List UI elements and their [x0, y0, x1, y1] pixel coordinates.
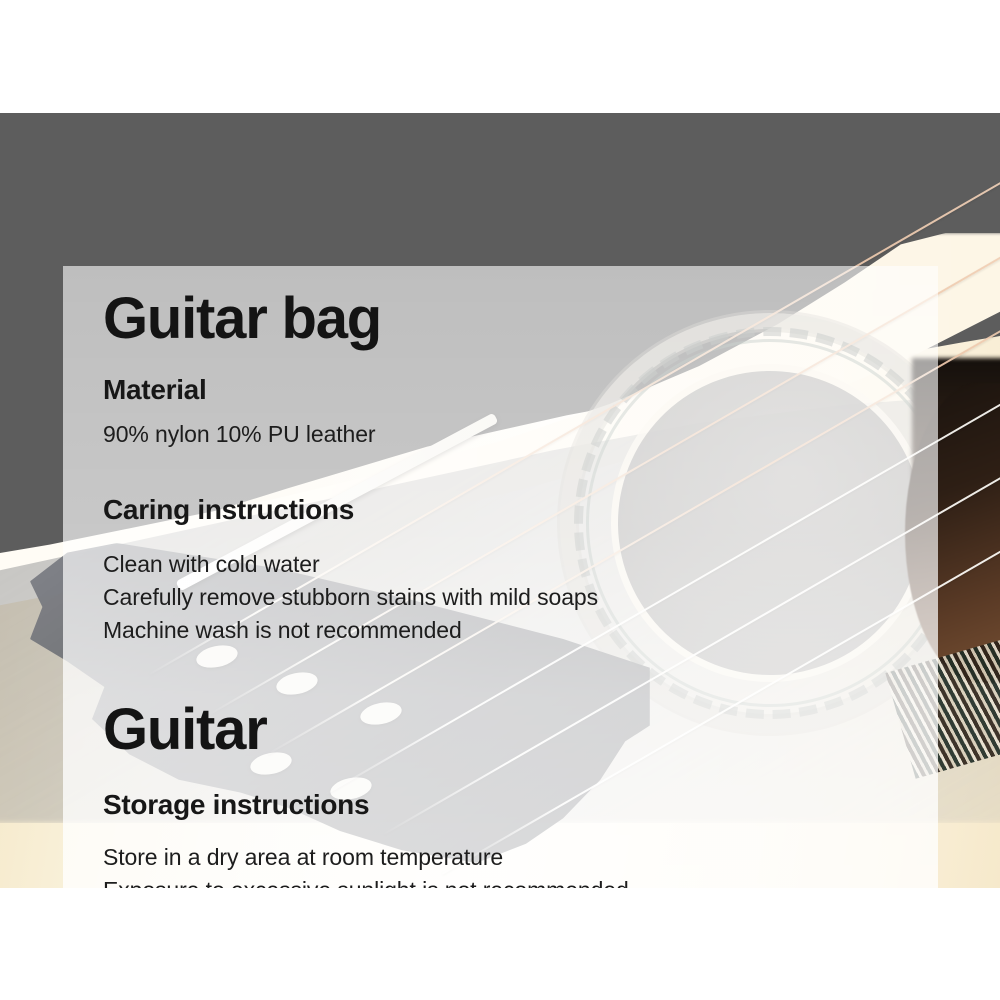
storage-instructions-list: Store in a dry area at room temperature …	[103, 841, 629, 888]
material-heading: Material	[103, 376, 206, 404]
material-value: 90% nylon 10% PU leather	[103, 418, 376, 451]
caring-instructions-list: Clean with cold water Carefully remove s…	[103, 548, 598, 647]
list-item: Clean with cold water	[103, 548, 598, 581]
product-info-graphic: Guitar bag Material 90% nylon 10% PU lea…	[0, 0, 1000, 1000]
info-overlay-panel: Guitar bag Material 90% nylon 10% PU lea…	[63, 266, 938, 888]
list-item: Store in a dry area at room temperature	[103, 841, 629, 874]
guitar-title: Guitar	[103, 701, 267, 759]
storage-instructions-heading: Storage instructions	[103, 791, 369, 819]
list-item: Exposure to excessive sunlight is not re…	[103, 874, 629, 888]
guitar-photo: Guitar bag Material 90% nylon 10% PU lea…	[0, 113, 1000, 888]
list-item: Carefully remove stubborn stains with mi…	[103, 581, 598, 614]
caring-instructions-heading: Caring instructions	[103, 496, 354, 524]
list-item: Machine wash is not recommended	[103, 614, 598, 647]
guitar-bag-title: Guitar bag	[103, 290, 381, 348]
